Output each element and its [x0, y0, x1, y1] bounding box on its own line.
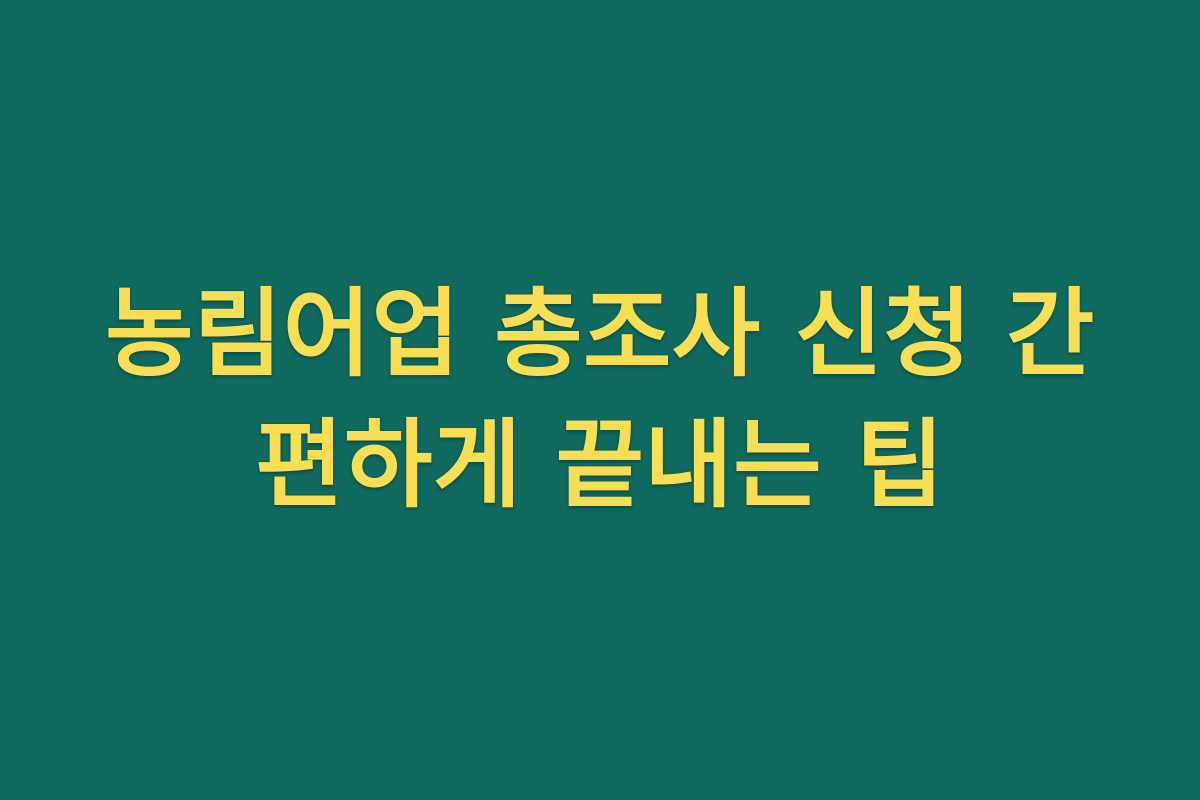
page-title-line-2: 편하게 끝내는 팁 — [70, 400, 1130, 531]
page-title: 농림어업 총조사 신청 간 편하게 끝내는 팁 — [70, 269, 1130, 530]
page-title-line-1: 농림어업 총조사 신청 간 — [70, 269, 1130, 400]
title-card: 농림어업 총조사 신청 간 편하게 끝내는 팁 — [0, 0, 1200, 800]
